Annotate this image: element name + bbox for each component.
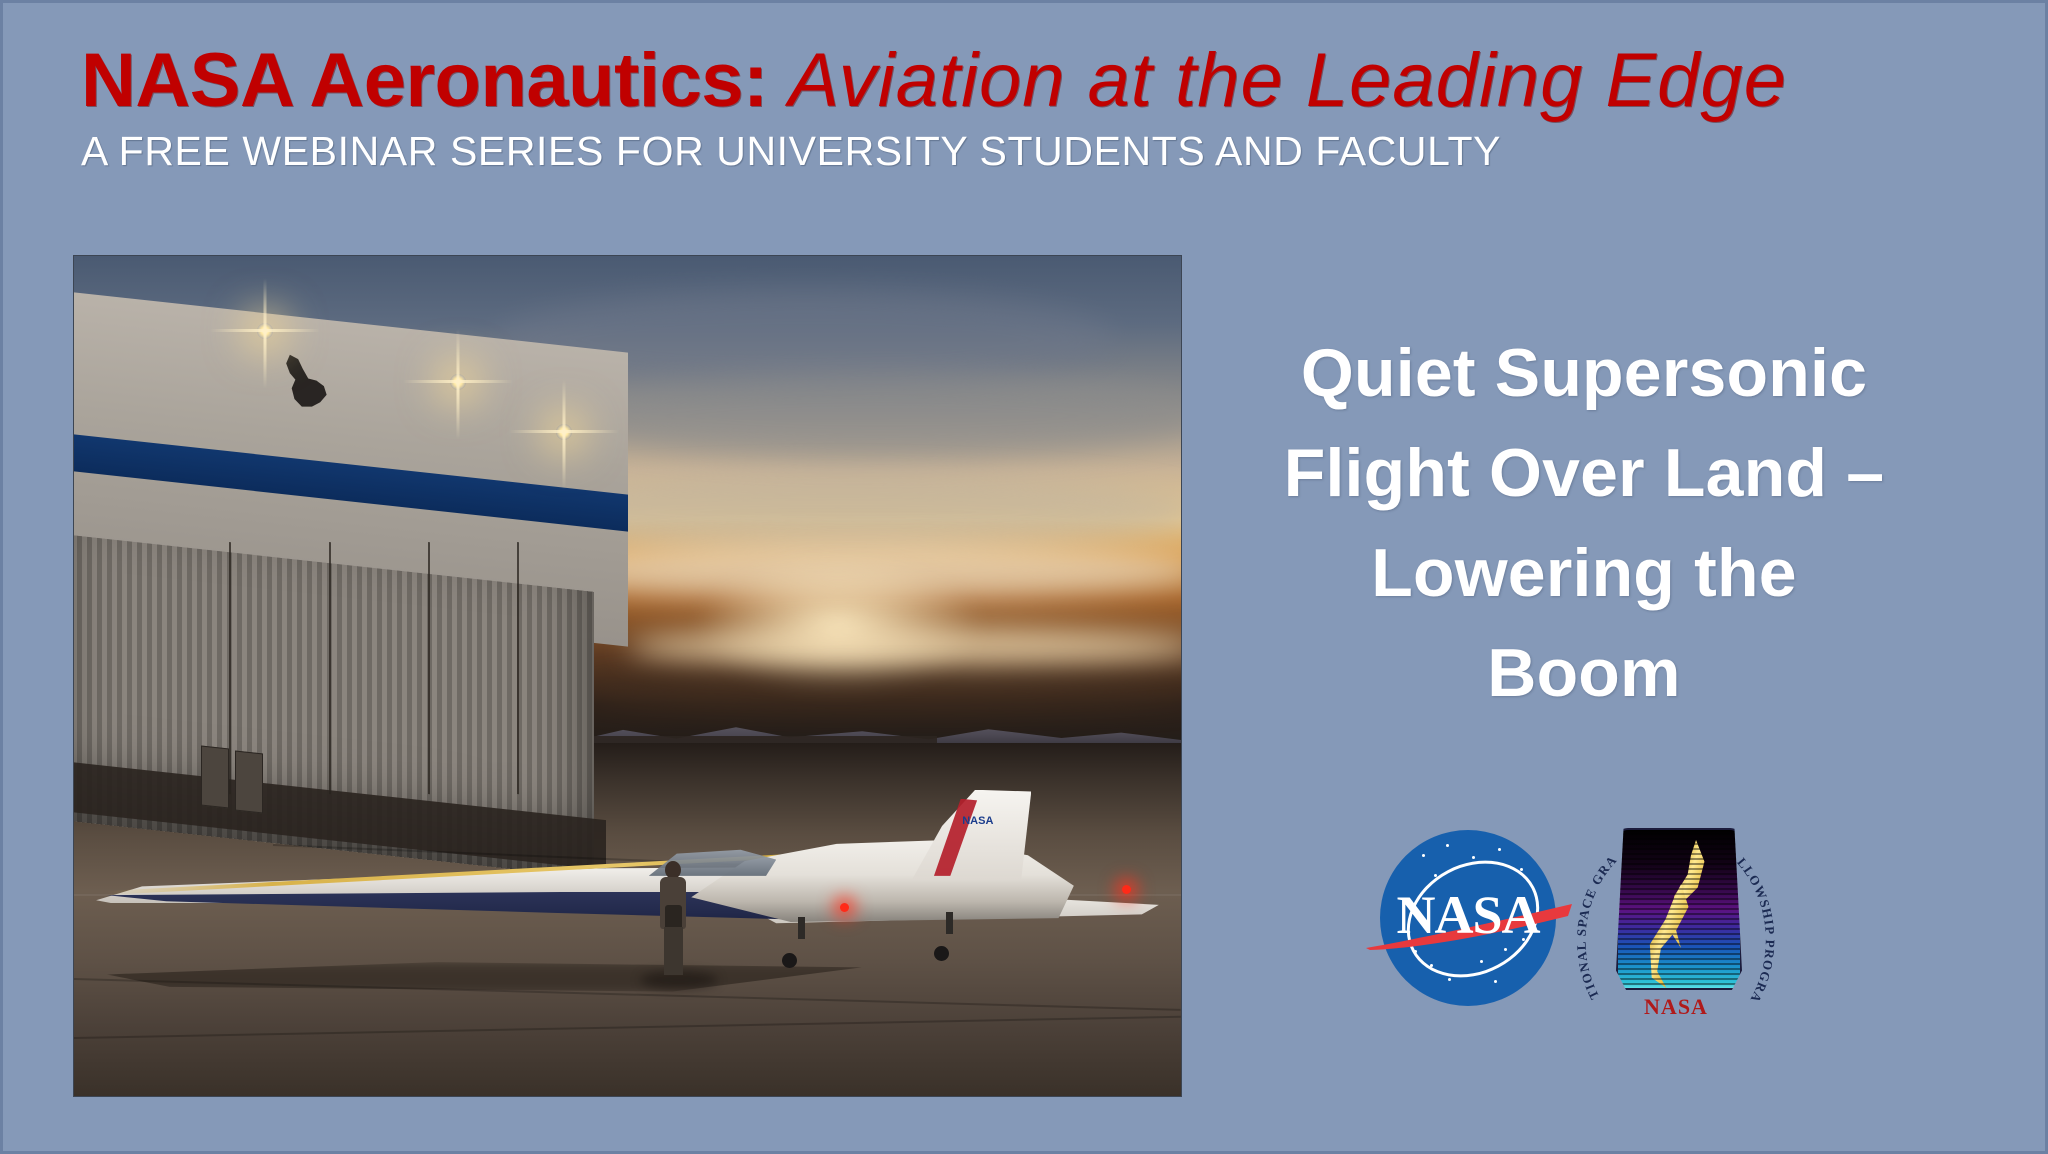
photo-hangar-door-seam <box>229 542 231 794</box>
photo-hangar-light <box>257 323 273 339</box>
series-title-tagline: Aviation at the Leading Edge <box>788 38 1786 123</box>
space-grant-logo: COLLEGE AND NATIONAL SPACE GRANT FELLOWS… <box>1576 804 1806 1054</box>
photo-aircraft-landing-gear <box>798 917 805 939</box>
photo-aircraft-wheel <box>782 953 797 968</box>
headline-line-4: Boom <box>1239 623 1929 723</box>
logo-row: NASA COLLEGE AND NATIONAL SPACE GRANT FE… <box>1358 798 1828 1058</box>
photo-aircraft-wheel <box>934 946 949 961</box>
headline-line-1: Quiet Supersonic <box>1239 323 1929 423</box>
series-title: NASA Aeronautics: Aviation at the Leadin… <box>81 39 1981 123</box>
x59-aircraft-photo: NASA <box>74 256 1181 1096</box>
space-grant-logo-footer: NASA <box>1576 994 1776 1020</box>
space-grant-logo-shield <box>1616 828 1742 990</box>
photo-cloud <box>628 626 1182 668</box>
photo-cloud <box>561 374 1181 458</box>
slide-header: NASA Aeronautics: Aviation at the Leadin… <box>81 39 1981 175</box>
photo-hangar-door-seam <box>428 542 430 794</box>
headline-line-3: Lowering the <box>1239 523 1929 623</box>
photo-aircraft-nav-light <box>1122 885 1131 894</box>
space-grant-scanlines <box>1618 830 1740 988</box>
photo-person <box>656 861 690 981</box>
svg-text:NATIONAL SPACE GRANT: NATIONAL SPACE GRANT <box>1576 804 1620 1002</box>
series-title-brand: NASA Aeronautics: <box>81 38 768 123</box>
photo-aircraft-tail-nasa-text: NASA <box>962 815 993 827</box>
photo-hangar-door-seam <box>517 542 519 794</box>
slide-headline: Quiet Supersonic Flight Over Land – Lowe… <box>1239 323 1929 723</box>
nasa-logo: NASA <box>1368 818 1568 1018</box>
photo-hangar-light <box>556 424 572 440</box>
nasa-logo-wordmark: NASA <box>1368 888 1568 942</box>
series-subtitle: A FREE WEBINAR SERIES FOR UNIVERSITY STU… <box>81 127 1981 175</box>
photo-cloud <box>583 676 1181 710</box>
photo-aircraft-shadow <box>107 962 893 991</box>
photo-hangar-door-seam <box>329 542 331 794</box>
photo-aircraft-landing-gear <box>946 912 953 934</box>
photo-x59-aircraft: NASA <box>96 785 1159 1012</box>
photo-hangar-light <box>450 374 466 390</box>
webinar-slide: NASA Aeronautics: Aviation at the Leadin… <box>0 0 2048 1154</box>
headline-line-2: Flight Over Land – <box>1239 423 1929 523</box>
